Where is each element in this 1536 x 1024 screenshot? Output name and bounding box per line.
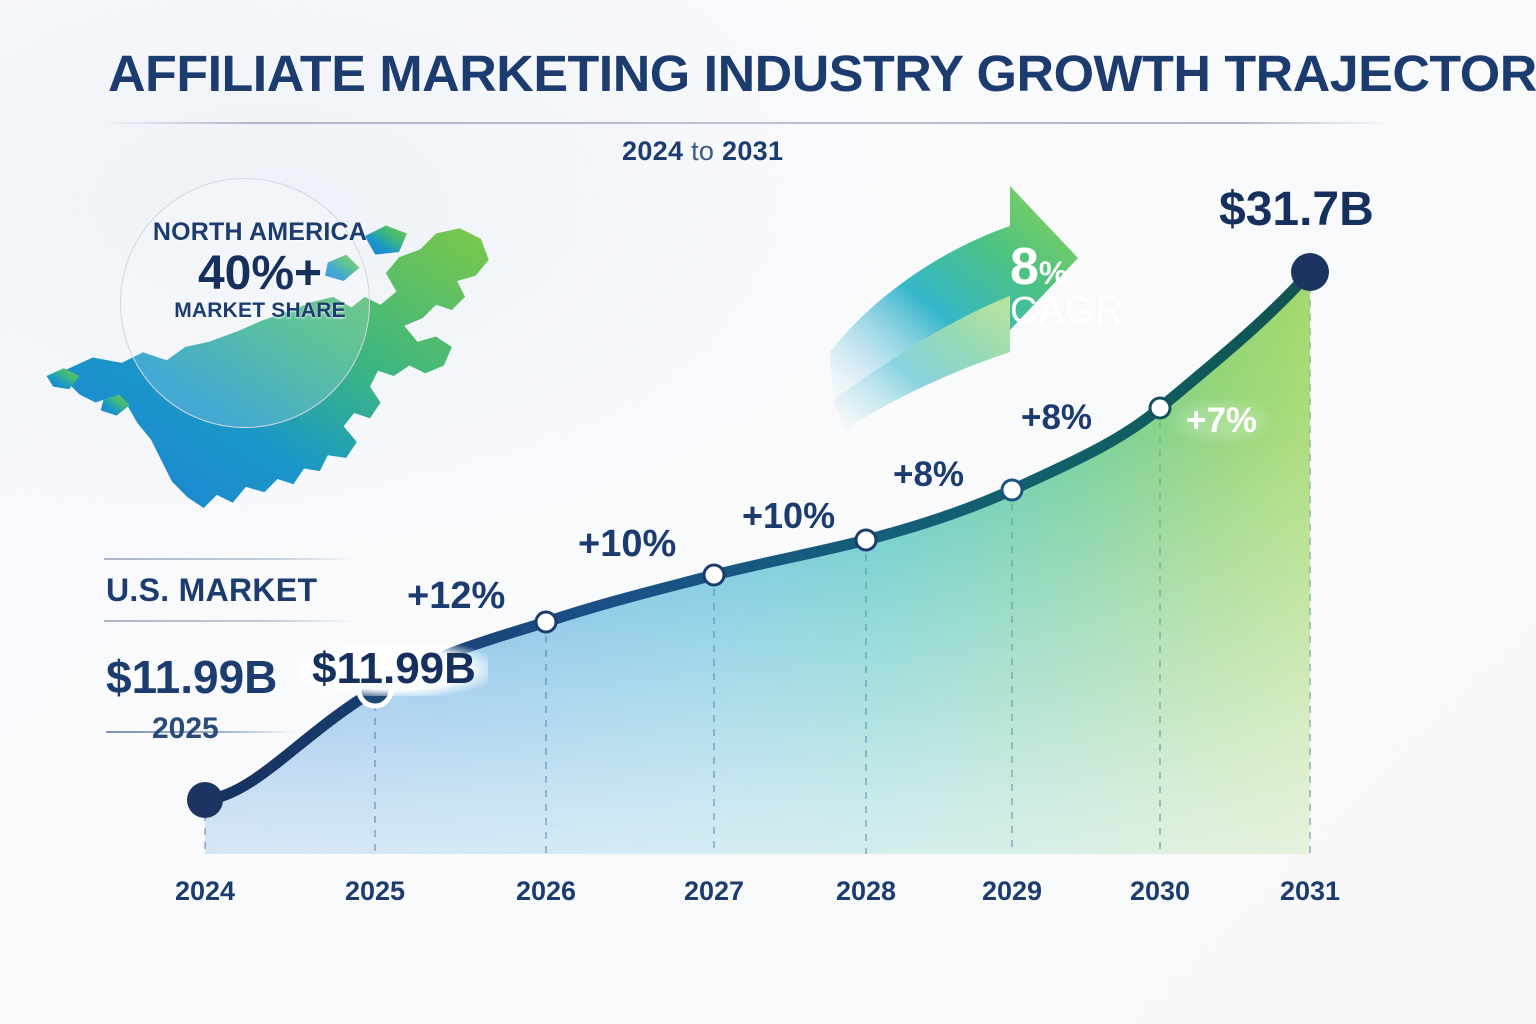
us-market-label: U.S. MARKET bbox=[106, 572, 317, 609]
title-divider bbox=[100, 122, 1390, 124]
x-tick-2029: 2029 bbox=[982, 876, 1042, 907]
cagr-value: 8% bbox=[1010, 243, 1200, 292]
growth-label-text: +8% bbox=[893, 455, 964, 494]
north-america-badge: NORTH AMERICA 40%+ MARKET SHARE bbox=[140, 218, 380, 323]
us-market-value: $11.99B bbox=[106, 650, 277, 704]
cagr-number: 8 bbox=[1010, 238, 1039, 296]
x-tick-2026: 2026 bbox=[516, 876, 576, 907]
growth-label-2027-2028: +8% bbox=[893, 455, 964, 495]
callout-2031-value: $31.7B bbox=[1219, 182, 1374, 237]
us-market-year: 2025 bbox=[152, 712, 219, 746]
x-tick-2024: 2024 bbox=[175, 876, 235, 907]
x-tick-2025: 2025 bbox=[345, 876, 405, 907]
x-tick-2028: 2028 bbox=[836, 876, 896, 907]
x-tick-2031: 2031 bbox=[1280, 876, 1340, 907]
data-point-2026[interactable] bbox=[536, 612, 556, 632]
data-point-2031[interactable] bbox=[1291, 253, 1329, 291]
north-america-share-value: 40%+ bbox=[140, 249, 380, 299]
data-point-2024[interactable] bbox=[187, 782, 223, 818]
growth-label-text: +12% bbox=[407, 575, 505, 617]
x-tick-2030: 2030 bbox=[1130, 876, 1190, 907]
data-point-2028[interactable] bbox=[856, 530, 876, 550]
data-point-2029[interactable] bbox=[1002, 480, 1022, 500]
north-america-share-label: MARKET SHARE bbox=[140, 299, 380, 323]
us-market-divider-top bbox=[104, 558, 354, 560]
growth-label-2029-2030: +7% bbox=[1172, 399, 1271, 443]
subtitle-mid: to bbox=[683, 136, 722, 166]
cagr-label: CAGR bbox=[1010, 292, 1200, 332]
data-point-2030[interactable] bbox=[1150, 398, 1170, 418]
x-axis-line bbox=[95, 854, 1390, 856]
subtitle: 2024 to 2031 bbox=[622, 136, 783, 167]
cagr-badge: 8% CAGR bbox=[1010, 243, 1200, 332]
growth-label-2028-2029: +8% bbox=[1021, 398, 1092, 438]
callout-2025-value: $11.99B bbox=[300, 642, 488, 696]
growth-label-2024-2025: +12% bbox=[407, 575, 505, 618]
subtitle-end: 2031 bbox=[722, 136, 783, 166]
growth-label-text: +10% bbox=[578, 523, 676, 565]
page-title: AFFILIATE MARKETING INDUSTRY GROWTH TRAJ… bbox=[108, 44, 1424, 103]
growth-label-2026-2027: +10% bbox=[742, 495, 835, 537]
growth-label-text: +8% bbox=[1021, 398, 1092, 437]
growth-label-2025-2026: +10% bbox=[578, 523, 676, 566]
north-america-region-label: NORTH AMERICA bbox=[140, 218, 380, 247]
subtitle-start: 2024 bbox=[622, 136, 683, 166]
data-point-2027[interactable] bbox=[704, 565, 724, 585]
cagr-unit: % bbox=[1039, 255, 1068, 291]
us-market-divider-bottom bbox=[104, 620, 354, 622]
growth-label-text: +7% bbox=[1186, 401, 1257, 440]
x-tick-2027: 2027 bbox=[684, 876, 744, 907]
growth-label-text: +10% bbox=[742, 495, 835, 536]
